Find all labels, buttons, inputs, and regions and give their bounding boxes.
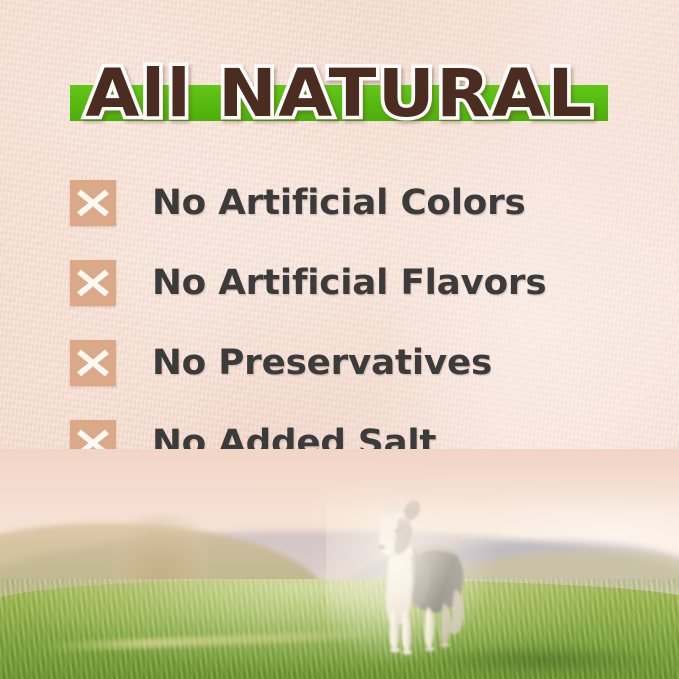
list-item: No Preservatives — [70, 340, 630, 386]
x-mark-icon — [70, 180, 116, 226]
headline-text: All NATURAL — [0, 52, 679, 136]
dog-photo-subject — [352, 497, 476, 657]
list-item: No Artificial Flavors — [70, 260, 630, 306]
landscape-photo — [0, 449, 679, 679]
list-item-label: No Preservatives — [152, 340, 492, 386]
photo-top-fade — [0, 449, 679, 511]
headline-block: All NATURAL — [0, 52, 679, 136]
x-mark-icon — [70, 340, 116, 386]
list-item-label: No Artificial Colors — [152, 180, 526, 226]
all-natural-poster: All NATURAL No Artificial Colors No Arti… — [0, 0, 679, 679]
list-item: No Artificial Colors — [70, 180, 630, 226]
x-mark-icon — [70, 260, 116, 306]
list-item-label: No Artificial Flavors — [152, 260, 546, 306]
photo-grass-field — [0, 579, 679, 679]
